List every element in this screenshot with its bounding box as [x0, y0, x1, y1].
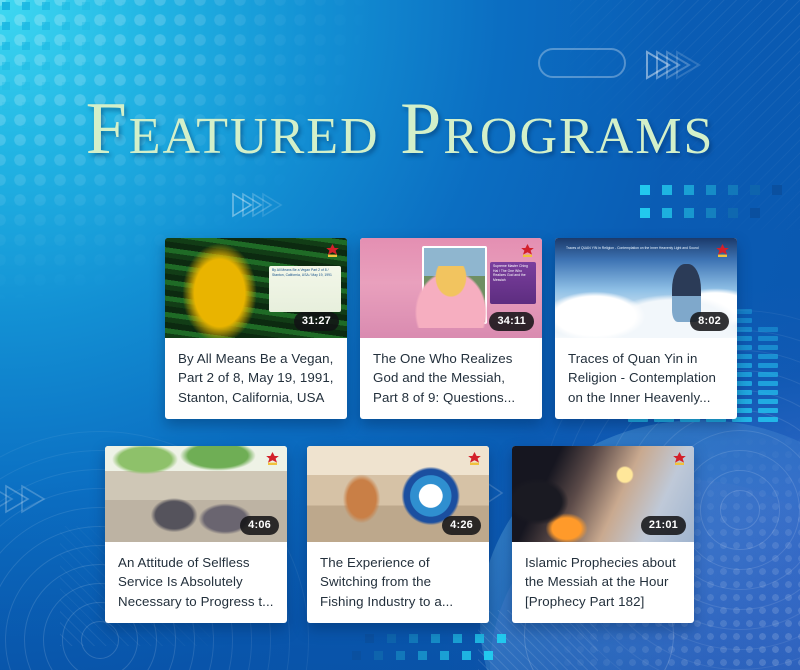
arrow-row-top-right — [645, 50, 685, 78]
card-thumbnail[interactable]: 4:26 — [307, 446, 489, 542]
thumbnail-caption-overlay: Supreme Master Ching Hai / The One Who R… — [490, 262, 536, 304]
page-title: Featured Programs — [0, 92, 800, 166]
supreme-master-tv-logo-icon — [714, 243, 731, 258]
card-title: An Attitude of Selfless Service Is Absol… — [105, 542, 287, 623]
card-title: The Experience of Switching from the Fis… — [307, 542, 489, 623]
featured-programs-banner: Featured Programs By All Means Be a Vega… — [0, 0, 800, 670]
square-dot-row-bottom-lower — [352, 651, 493, 660]
program-card[interactable]: 4:06 An Attitude of Selfless Service Is … — [105, 446, 287, 623]
card-thumbnail[interactable]: Supreme Master Ching Hai / The One Who R… — [360, 238, 542, 338]
duration-badge: 31:27 — [294, 312, 339, 331]
supreme-master-tv-logo-icon — [466, 451, 483, 466]
duration-badge: 8:02 — [690, 312, 729, 331]
program-card[interactable]: Traces of QUAN YIN in Religion - Contemp… — [555, 238, 737, 419]
program-card[interactable]: By All Means Be a Vegan Part 2 of 8 / St… — [165, 238, 347, 419]
program-card[interactable]: 21:01 Islamic Prophecies about the Messi… — [512, 446, 694, 623]
program-card[interactable]: 4:26 The Experience of Switching from th… — [307, 446, 489, 623]
duration-badge: 21:01 — [641, 516, 686, 535]
arrow-row-left — [0, 484, 30, 512]
card-thumbnail[interactable]: 21:01 — [512, 446, 694, 542]
supreme-master-tv-logo-icon — [324, 243, 341, 258]
rounded-pill-outline — [538, 48, 626, 78]
card-thumbnail[interactable]: 4:06 — [105, 446, 287, 542]
card-title: By All Means Be a Vegan, Part 2 of 8, Ma… — [165, 338, 347, 419]
supreme-master-tv-logo-icon — [264, 451, 281, 466]
duration-badge: 4:06 — [240, 516, 279, 535]
card-title: Islamic Prophecies about the Messiah at … — [512, 542, 694, 623]
card-title: The One Who Realizes God and the Messiah… — [360, 338, 542, 419]
card-title: Traces of Quan Yin in Religion - Contemp… — [555, 338, 737, 419]
program-card[interactable]: Supreme Master Ching Hai / The One Who R… — [360, 238, 542, 419]
card-thumbnail[interactable]: Traces of QUAN YIN in Religion - Contemp… — [555, 238, 737, 338]
arrow-row-mid-left — [231, 192, 271, 220]
duration-badge: 34:11 — [489, 312, 534, 331]
supreme-master-tv-logo-icon — [671, 451, 688, 466]
duration-badge: 4:26 — [442, 516, 481, 535]
supreme-master-tv-logo-icon — [519, 243, 536, 258]
square-dot-row-bottom-upper — [365, 634, 506, 643]
square-dot-row-lower — [640, 208, 760, 218]
square-dot-row-upper — [640, 185, 782, 195]
thumbnail-caption-overlay: Traces of QUAN YIN in Religion - Contemp… — [563, 244, 707, 286]
card-thumbnail[interactable]: By All Means Be a Vegan Part 2 of 8 / St… — [165, 238, 347, 338]
thumbnail-caption-overlay: By All Means Be a Vegan Part 2 of 8 / St… — [269, 266, 341, 312]
